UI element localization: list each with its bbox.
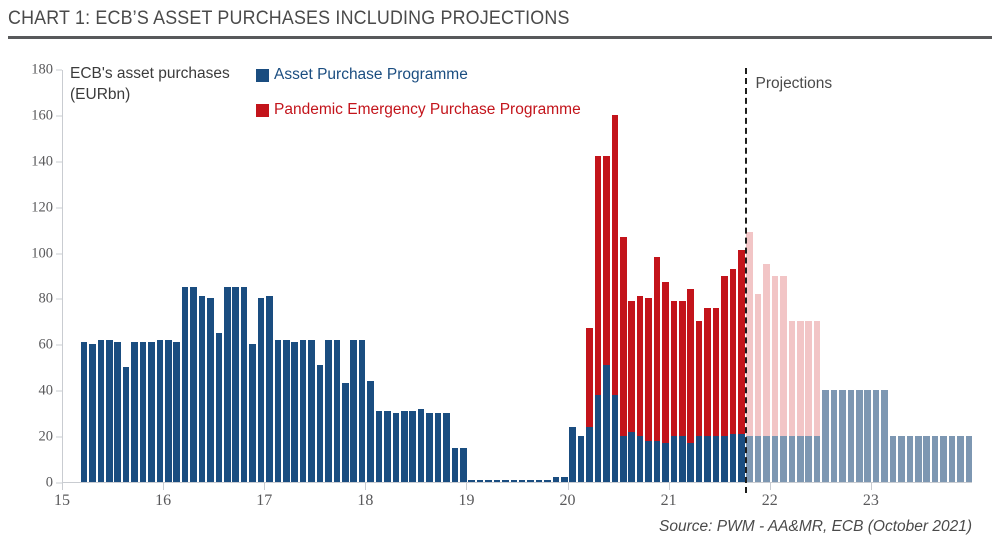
bar-segment-app (485, 480, 492, 482)
bar-column[interactable] (536, 480, 543, 482)
bar-segment-app (384, 411, 391, 482)
bar-segment-app (308, 340, 315, 482)
bar-column[interactable] (873, 390, 880, 482)
title-divider (8, 36, 992, 39)
x-axis-tick-label: 19 (436, 492, 496, 510)
bar-column[interactable] (241, 287, 248, 482)
x-axis-tick-label: 22 (740, 492, 800, 510)
bar-column[interactable] (628, 301, 635, 482)
bar-column[interactable] (452, 448, 459, 482)
bar-column[interactable] (308, 340, 315, 482)
bar-column[interactable] (342, 383, 349, 482)
bar-column[interactable] (468, 480, 475, 482)
bar-segment-pepp (612, 115, 619, 395)
x-axis-tick-label: 16 (133, 492, 193, 510)
x-axis-tick-mark (365, 483, 366, 490)
bar-segment-app (645, 441, 652, 482)
bar-segment-app (291, 342, 298, 482)
bar-segment-pepp (679, 301, 686, 436)
bar-column[interactable] (915, 436, 922, 482)
bar-segment-app (966, 436, 973, 482)
bar-segment-pepp (704, 308, 711, 436)
bar-column[interactable] (359, 340, 366, 482)
y-axis-tick-label: 60 (9, 337, 53, 354)
bar-column[interactable] (789, 321, 796, 482)
bar-segment-pepp (721, 276, 728, 437)
bar-segment-app (856, 390, 863, 482)
x-axis-tick-label: 17 (234, 492, 294, 510)
bar-segment-app (822, 390, 829, 482)
bar-column[interactable] (780, 276, 787, 483)
bar-column[interactable] (376, 411, 383, 482)
bar-segment-app (662, 443, 669, 482)
bar-segment-app (864, 390, 871, 482)
bar-column[interactable] (763, 264, 770, 482)
bar-column[interactable] (797, 321, 804, 482)
bar-segment-app (805, 436, 812, 482)
projection-divider-line (745, 68, 747, 493)
bar-column[interactable] (746, 232, 753, 482)
bar-column[interactable] (687, 289, 694, 482)
bar-column[interactable] (443, 413, 450, 482)
bar-column[interactable] (713, 308, 720, 482)
bar-column[interactable] (898, 436, 905, 482)
bar-segment-app (628, 432, 635, 482)
bar-segment-app (359, 340, 366, 482)
bar-column[interactable] (418, 409, 425, 482)
bar-column[interactable] (654, 257, 661, 482)
bar-column[interactable] (907, 436, 914, 482)
bar-segment-pepp (814, 321, 821, 436)
y-axis-tick-label: 0 (9, 475, 53, 492)
bar-segment-app (814, 436, 821, 482)
bar-segment-app (443, 413, 450, 482)
bar-segment-app (393, 413, 400, 482)
y-axis-tick-label: 80 (9, 291, 53, 308)
bar-segment-app (114, 342, 121, 482)
bar-segment-app (98, 340, 105, 482)
bar-segment-pepp (730, 269, 737, 434)
bar-column[interactable] (527, 480, 534, 482)
bar-column[interactable] (949, 436, 956, 482)
bar-column[interactable] (182, 287, 189, 482)
bar-segment-app (536, 480, 543, 482)
bar-segment-app (519, 480, 526, 482)
y-axis-tick-mark (56, 299, 62, 300)
x-axis-tick-mark (62, 483, 63, 490)
x-axis-tick-mark (264, 483, 265, 490)
y-axis-tick-label: 140 (9, 153, 53, 170)
bar-segment-app (696, 436, 703, 482)
bar-segment-app (409, 411, 416, 482)
bar-segment-app (797, 436, 804, 482)
bar-column[interactable] (275, 340, 282, 482)
bar-segment-app (569, 427, 576, 482)
bar-column[interactable] (98, 340, 105, 482)
bar-segment-app (131, 342, 138, 482)
bar-segment-app (907, 436, 914, 482)
bar-segment-pepp (595, 156, 602, 395)
bar-column[interactable] (157, 340, 164, 482)
bar-segment-app (730, 434, 737, 482)
bar-column[interactable] (561, 477, 568, 482)
bar-column[interactable] (350, 340, 357, 482)
bar-segment-app (553, 477, 560, 482)
bar-segment-app (940, 436, 947, 482)
bar-segment-pepp (687, 289, 694, 443)
bar-segment-pepp (780, 276, 787, 437)
bar-column[interactable] (384, 411, 391, 482)
y-axis-tick-label: 120 (9, 199, 53, 216)
bar-segment-app (915, 436, 922, 482)
bar-column[interactable] (485, 480, 492, 482)
x-axis-tick-mark (163, 483, 164, 490)
title-bar: CHART 1: ECB’S ASSET PURCHASES INCLUDING… (8, 6, 992, 40)
bar-segment-app (283, 340, 290, 482)
bar-segment-app (89, 344, 96, 482)
bar-column[interactable] (578, 436, 585, 482)
bar-column[interactable] (671, 301, 678, 482)
bar-segment-app (241, 287, 248, 482)
bar-segment-app (266, 296, 273, 482)
bar-segment-app (401, 411, 408, 482)
bar-segment-app (157, 340, 164, 482)
bar-segment-app (923, 436, 930, 482)
bar-column[interactable] (114, 342, 121, 482)
bar-segment-pepp (662, 282, 669, 443)
bar-segment-app (881, 390, 888, 482)
bar-segment-app (561, 477, 568, 482)
bar-column[interactable] (325, 340, 332, 482)
bar-segment-app (232, 287, 239, 482)
bar-column[interactable] (165, 340, 172, 482)
bar-segment-app (586, 427, 593, 482)
x-axis-tick-mark (871, 483, 872, 490)
bar-segment-app (148, 342, 155, 482)
bar-column[interactable] (814, 321, 821, 482)
bar-column[interactable] (511, 480, 518, 482)
bar-column[interactable] (923, 436, 930, 482)
bar-segment-app (763, 436, 770, 482)
bar-column[interactable] (704, 308, 711, 482)
source-note: Source: PWM - AA&MR, ECB (October 2021) (659, 518, 972, 536)
bar-segment-app (190, 287, 197, 482)
y-axis-tick-mark (56, 161, 62, 162)
bar-segment-app (780, 436, 787, 482)
bar-segment-pepp (620, 237, 627, 437)
bar-column[interactable] (435, 413, 442, 482)
bar-column[interactable] (881, 390, 888, 482)
bar-column[interactable] (140, 342, 147, 482)
x-axis-tick-label: 21 (639, 492, 699, 510)
projection-label: Projections (756, 75, 833, 93)
bar-segment-app (494, 480, 501, 482)
bar-column[interactable] (216, 333, 223, 482)
x-axis-tick-mark (568, 483, 569, 490)
bar-segment-pepp (755, 294, 762, 436)
bar-segment-pepp (603, 156, 610, 365)
y-axis-tick-mark (56, 207, 62, 208)
bar-column[interactable] (544, 480, 551, 482)
bar-segment-pepp (637, 296, 644, 436)
bar-segment-pepp (645, 298, 652, 440)
bar-column[interactable] (966, 436, 973, 482)
bar-column[interactable] (890, 436, 897, 482)
bar-column[interactable] (957, 436, 964, 482)
x-axis-tick-mark (770, 483, 771, 490)
bar-column[interactable] (334, 340, 341, 482)
bar-column[interactable] (519, 480, 526, 482)
bar-segment-app (620, 436, 627, 482)
bar-column[interactable] (367, 381, 374, 482)
bar-segment-app (839, 390, 846, 482)
bar-column[interactable] (207, 298, 214, 482)
bar-column[interactable] (224, 287, 231, 482)
bar-column[interactable] (831, 390, 838, 482)
bar-segment-app (898, 436, 905, 482)
bar-segment-app (713, 436, 720, 482)
bar-segment-pepp (789, 321, 796, 436)
bar-column[interactable] (848, 390, 855, 482)
bar-segment-app (789, 436, 796, 482)
bar-segment-app (671, 436, 678, 482)
y-axis-tick-label: 20 (9, 429, 53, 446)
bar-segment-pepp (628, 301, 635, 432)
bar-column[interactable] (426, 413, 433, 482)
bar-column[interactable] (89, 344, 96, 482)
bar-column[interactable] (123, 367, 130, 482)
bar-column[interactable] (822, 390, 829, 482)
bar-segment-app (182, 287, 189, 482)
plot-inner (63, 70, 972, 482)
bar-segment-app (258, 298, 265, 482)
bar-column[interactable] (409, 411, 416, 482)
bar-column[interactable] (300, 340, 307, 482)
bar-column[interactable] (317, 365, 324, 482)
bar-segment-pepp (772, 276, 779, 437)
bar-segment-app (426, 413, 433, 482)
bar-column[interactable] (620, 237, 627, 483)
bar-segment-app (452, 448, 459, 482)
y-axis-tick-label: 100 (9, 245, 53, 262)
bar-column[interactable] (148, 342, 155, 482)
bar-column[interactable] (502, 480, 509, 482)
y-axis-tick-label: 40 (9, 383, 53, 400)
bar-segment-app (460, 448, 467, 482)
bar-column[interactable] (249, 344, 256, 482)
bar-column[interactable] (232, 287, 239, 482)
bar-segment-pepp (797, 321, 804, 436)
bar-segment-app (772, 436, 779, 482)
x-axis-tick-label: 15 (32, 492, 92, 510)
y-axis-tick-mark (56, 391, 62, 392)
y-axis-tick-label: 160 (9, 107, 53, 124)
bar-column[interactable] (401, 411, 408, 482)
bar-segment-pepp (586, 328, 593, 427)
bar-segment-app (468, 480, 475, 482)
bar-segment-pepp (696, 321, 703, 436)
bar-segment-app (679, 436, 686, 482)
bar-segment-app (275, 340, 282, 482)
bar-column[interactable] (266, 296, 273, 482)
bar-column[interactable] (730, 269, 737, 482)
bar-segment-pepp (671, 301, 678, 436)
y-axis-tick-mark (56, 437, 62, 438)
bar-column[interactable] (258, 298, 265, 482)
bar-segment-app (216, 333, 223, 482)
bar-column[interactable] (864, 390, 871, 482)
bar-segment-pepp (713, 308, 720, 436)
page-title: CHART 1: ECB’S ASSET PURCHASES INCLUDING… (8, 6, 933, 32)
bar-segment-app (949, 436, 956, 482)
bar-column[interactable] (393, 413, 400, 482)
chart-page: CHART 1: ECB’S ASSET PURCHASES INCLUDING… (0, 0, 1000, 560)
bar-segment-app (224, 287, 231, 482)
bar-column[interactable] (805, 321, 812, 482)
bar-segment-app (367, 381, 374, 482)
x-axis-tick-label: 20 (538, 492, 598, 510)
bar-column[interactable] (856, 390, 863, 482)
bar-column[interactable] (81, 342, 88, 482)
bar-segment-app (173, 342, 180, 482)
bar-segment-app (704, 436, 711, 482)
bar-segment-app (418, 409, 425, 482)
bar-segment-app (165, 340, 172, 482)
bar-segment-app (300, 340, 307, 482)
y-axis-tick-mark (56, 345, 62, 346)
x-axis-tick-label: 18 (335, 492, 395, 510)
bar-column[interactable] (940, 436, 947, 482)
bar-segment-app (140, 342, 147, 482)
bar-segment-app (755, 436, 762, 482)
bar-column[interactable] (932, 436, 939, 482)
x-axis-tick-mark (466, 483, 467, 490)
bar-column[interactable] (696, 321, 703, 482)
y-axis-tick-mark (56, 253, 62, 254)
bar-segment-app (687, 443, 694, 482)
bar-segment-app (890, 436, 897, 482)
bar-segment-app (334, 340, 341, 482)
bar-segment-app (654, 441, 661, 482)
bar-segment-app (527, 480, 534, 482)
bar-column[interactable] (839, 390, 846, 482)
bar-segment-pepp (805, 321, 812, 436)
y-axis-tick-mark (56, 70, 62, 71)
bar-segment-app (342, 383, 349, 482)
bar-segment-app (957, 436, 964, 482)
bar-segment-app (746, 436, 753, 482)
bar-segment-app (637, 436, 644, 482)
bar-column[interactable] (131, 342, 138, 482)
bar-segment-app (81, 342, 88, 482)
bar-segment-app (848, 390, 855, 482)
x-axis-tick-label: 23 (841, 492, 901, 510)
bar-column[interactable] (586, 328, 593, 482)
bar-column[interactable] (494, 480, 501, 482)
bar-column[interactable] (173, 342, 180, 482)
bar-segment-pepp (746, 232, 753, 436)
bar-segment-app (123, 367, 130, 482)
bar-segment-app (207, 298, 214, 482)
bar-segment-app (932, 436, 939, 482)
bar-column[interactable] (662, 282, 669, 482)
bar-column[interactable] (477, 480, 484, 482)
bar-column[interactable] (755, 294, 762, 482)
bar-column[interactable] (612, 115, 619, 482)
bar-column[interactable] (460, 448, 467, 482)
bar-segment-app (317, 365, 324, 482)
bar-segment-app (873, 390, 880, 482)
bar-column[interactable] (283, 340, 290, 482)
bar-segment-app (502, 480, 509, 482)
bar-segment-app (831, 390, 838, 482)
bar-segment-app (721, 436, 728, 482)
bar-column[interactable] (595, 156, 602, 482)
y-axis-tick-mark (56, 115, 62, 116)
bar-segment-app (612, 395, 619, 482)
bar-column[interactable] (291, 342, 298, 482)
y-axis-tick-label: 180 (9, 62, 53, 79)
bar-column[interactable] (603, 156, 610, 482)
bar-segment-app (325, 340, 332, 482)
bar-segment-pepp (654, 257, 661, 441)
bar-column[interactable] (190, 287, 197, 482)
bar-segment-app (376, 411, 383, 482)
bar-column[interactable] (553, 477, 560, 482)
bar-segment-app (199, 296, 206, 482)
bar-column[interactable] (679, 301, 686, 482)
bar-column[interactable] (106, 340, 113, 482)
bar-column[interactable] (721, 276, 728, 483)
bar-segment-app (595, 395, 602, 482)
x-axis-tick-mark (669, 483, 670, 490)
bar-column[interactable] (569, 427, 576, 482)
bar-column[interactable] (772, 276, 779, 483)
bar-column[interactable] (645, 298, 652, 482)
bar-segment-app (544, 480, 551, 482)
bar-column[interactable] (637, 296, 644, 482)
bar-segment-app (578, 436, 585, 482)
bar-segment-app (511, 480, 518, 482)
plot-area (62, 70, 972, 483)
bar-segment-app (603, 365, 610, 482)
bar-segment-app (249, 344, 256, 482)
bar-segment-app (435, 413, 442, 482)
bar-segment-app (477, 480, 484, 482)
bar-column[interactable] (199, 296, 206, 482)
bar-segment-app (106, 340, 113, 482)
bar-segment-pepp (763, 264, 770, 436)
bar-segment-app (350, 340, 357, 482)
